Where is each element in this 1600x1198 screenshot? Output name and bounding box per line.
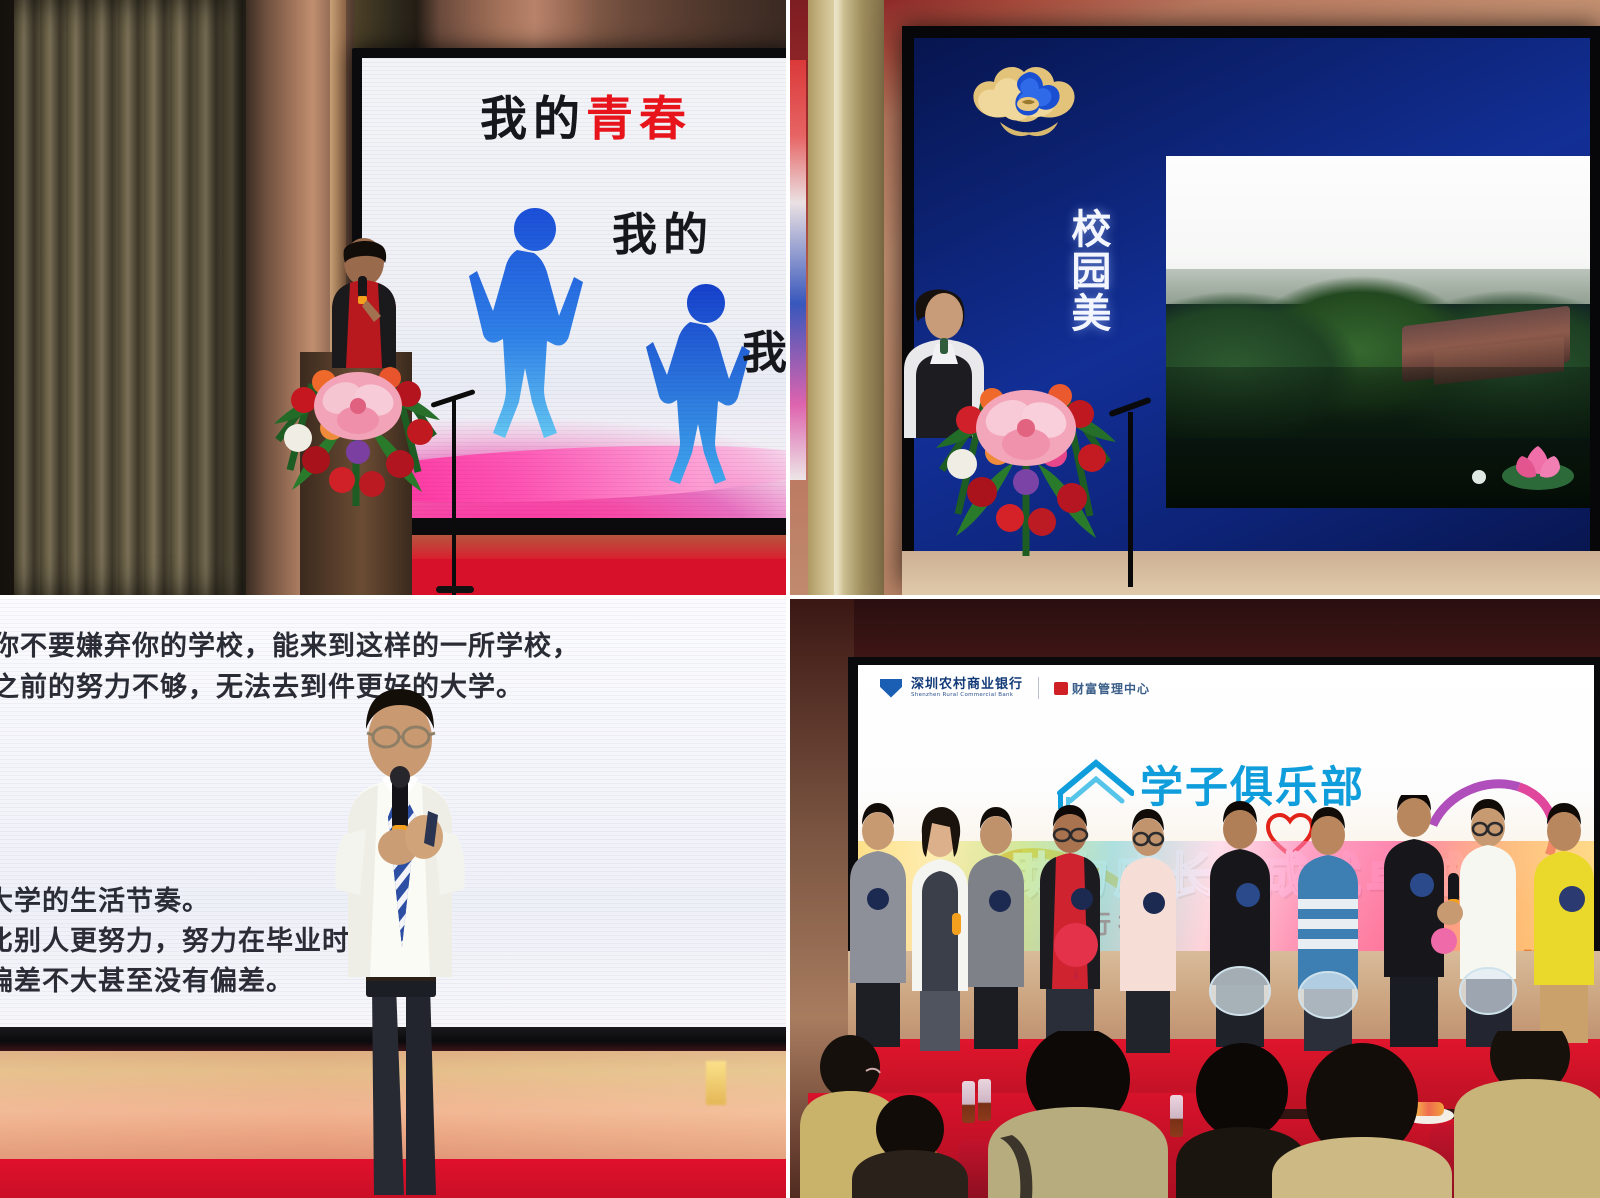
audience-member-2 xyxy=(988,1031,1168,1198)
partner-logo-lockup: 财富管理中心 xyxy=(1054,680,1150,697)
bank-name-en: Shenzhen Rural Commercial Bank xyxy=(911,692,1023,698)
collage-panel-top-left: 我的青春 我的 我 xyxy=(0,0,786,595)
campus-photo xyxy=(1166,156,1590,508)
slide-headline-line3: 我 xyxy=(742,316,786,381)
microphone-stand-top-right xyxy=(1128,412,1133,587)
stage-person-5 xyxy=(1120,809,1176,1053)
slide-headline-line1: 我的青春 xyxy=(480,80,692,149)
column-highlight xyxy=(834,0,844,595)
partner-mark-icon xyxy=(1054,682,1068,695)
photo-lotus-flower-icon xyxy=(1492,436,1584,498)
slide-vertical-title: 校园美 xyxy=(1064,208,1110,334)
photo-lotus-bud xyxy=(1472,470,1486,484)
audience-member-5 xyxy=(1454,1031,1600,1198)
stage-person-3 xyxy=(968,807,1024,1049)
stage-person-7 xyxy=(1298,807,1358,1051)
slide-headline-line2: 我的 xyxy=(612,198,714,263)
stage-curtain xyxy=(14,0,246,595)
slide-headline-plain: 我的 xyxy=(480,92,586,147)
marble-column xyxy=(808,0,884,595)
microphone-base-top-left xyxy=(436,586,474,593)
audience-group xyxy=(790,1031,1600,1198)
audience-member-4 xyxy=(1272,1043,1452,1198)
stage-person-6 xyxy=(1210,801,1270,1047)
stage-person-1 xyxy=(850,803,906,1047)
speaker-figure-bottom-left xyxy=(300,685,500,1198)
adjacent-slide-sliver xyxy=(790,60,806,480)
slide-headline-highlight: 青春 xyxy=(586,92,692,147)
photo-collage: 我的青春 我的 我 xyxy=(0,0,1600,1198)
stage-host xyxy=(1437,799,1516,1047)
wall-lamp-reflection xyxy=(706,1061,726,1105)
bank-name-cn: 深圳农村商业银行 xyxy=(911,678,1023,692)
stage-student-group xyxy=(848,795,1600,1065)
collage-panel-bottom-left: 你不要嫌弃你的学校，能来到这样的一所学校， 之前的努力不够，无法去到件更好的大学… xyxy=(0,599,786,1198)
collage-panel-top-right: 校园美 xyxy=(790,0,1600,595)
microphone-stand-top-left xyxy=(452,400,456,595)
podium-bouquet-top-left xyxy=(268,320,448,510)
podium-bouquet-top-right xyxy=(930,330,1120,560)
partner-name-cn: 财富管理中心 xyxy=(1072,680,1150,697)
bank-logo-lockup: 深圳农村商业银行 Shenzhen Rural Commercial Bank … xyxy=(880,677,1150,699)
stage-person-10 xyxy=(1534,803,1594,1043)
bank-shield-icon xyxy=(880,679,902,698)
logo-divider xyxy=(1038,677,1039,699)
collage-panel-bottom-right: 深圳农村商业银行 Shenzhen Rural Commercial Bank … xyxy=(790,599,1600,1198)
stage-person-4 xyxy=(1040,805,1100,1051)
lotus-emblem-icon xyxy=(966,56,1092,160)
stage-person-2 xyxy=(912,807,968,1051)
